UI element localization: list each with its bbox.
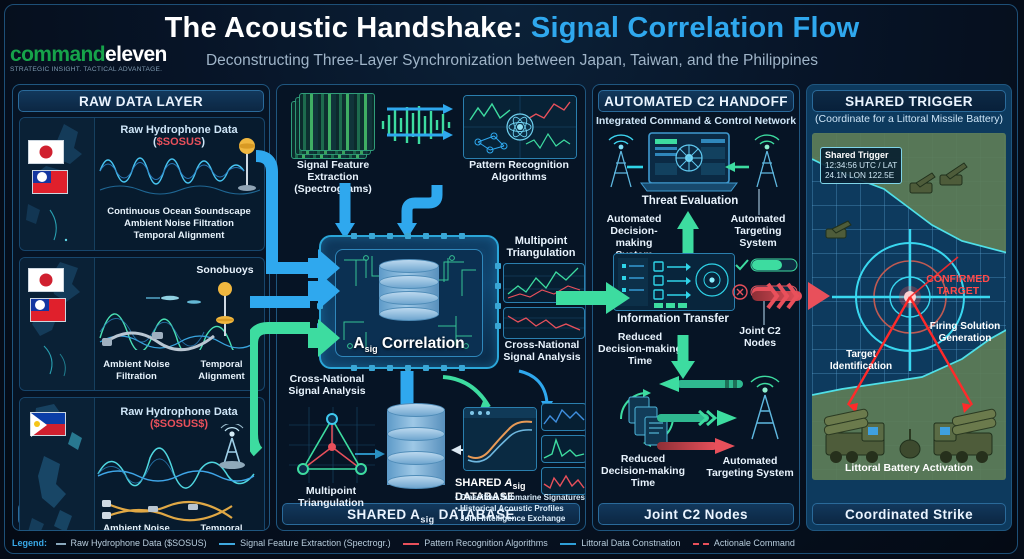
panel2-to-panel3-arrow [556,278,646,318]
legend-item-1: Raw Hydrophone Data ($SOSUS) [71,538,207,548]
radio-tower-icon-right [745,133,789,191]
map-japan-taiwan-1 [20,118,95,250]
signal-feature-l1: Signal Feature [287,159,379,171]
infographic-root: The Acoustic Handshake: Signal Correlati… [0,0,1024,559]
japan-flag [28,140,64,164]
ct-l2: TARGET [916,285,1000,297]
jc2-l1: Joint C2 [727,325,793,337]
legend-label: Legend: [12,538,47,548]
radio-tower-icon-lower [739,373,791,443]
raw-caption-1-a: Continuous Ocean Soundscape [94,206,264,218]
status-ok-bar-icon [733,257,799,273]
triangulation-icon [289,407,375,483]
raw-title-3-plain: Raw Hydrophone Data [94,406,264,418]
rtb-l1: Reduced [597,453,689,465]
reduced-time-bottom-label: Reduced Decision-making Time [597,453,689,489]
signal-feature-l2: Extraction [287,171,379,183]
threat-evaluation-label: Threat Evaluation [631,195,749,207]
legend-swatch-1 [56,543,66,545]
philippines-flag [30,412,66,436]
tag-line1: 12:34:56 UTC / LAT [825,161,897,171]
auto-targeting-bottom-label: Automated Targeting System [703,455,797,479]
chip-label-a: A [353,335,364,352]
legend-item-4: Littoral Data Constnation [581,538,680,548]
tower-link-left-icon [627,162,649,172]
shared-db-sub: sig [512,481,525,491]
pattern-recognition-label: Pattern Recognition Algorithms [459,159,579,183]
raw-row-japan-taiwan-2: Sonobuoys [19,257,265,391]
cable-icon-2 [100,320,220,354]
cnl-l2: Signal Analysis [283,385,371,397]
japan-flag-2 [28,268,64,292]
raw-cell-3: Raw Hydrophone Data ($SOSUS$) [94,398,264,531]
title-main: The Acoustic Handshake: [165,12,531,44]
shared-db-pre: SHARED [455,477,505,489]
panel3-subheader: Integrated Command & Control Network [593,115,799,127]
cross-national-label-right: Cross-National Signal Analysis [499,339,585,363]
database-icon-chip [379,259,439,321]
legend-swatch-3 [403,543,419,545]
target-identification-label: Target Identification [822,349,900,373]
raw-captions-1: Continuous Ocean Soundscape Ambient Nois… [94,206,264,242]
panel2-footer-pre: SHARED A [347,507,420,522]
tag-title: Shared Trigger [825,150,897,161]
auto-decision-l1: Automated [595,213,673,225]
sonobuoy-icon-1 [234,136,260,198]
mini-chart-icon-1 [542,404,586,430]
cnr-l2: Signal Analysis [499,351,585,363]
bullet-1: • Classified Submarine Signatures [455,493,585,504]
chip-label: Asig Correlation [321,335,497,354]
left-green-arrow-icon [655,375,749,393]
pattern-recognition-l2: Algorithms [459,171,579,183]
battery-activation-label: Littoral Battery Activation [812,462,1006,474]
raw-caption-3-left: Ambient Noise Filtration [94,522,179,531]
raw-caption-3-right: Temporal Alignment [179,522,264,531]
jc2-l2: Nodes [727,337,793,349]
raw-captions-3: Ambient Noise Filtration Temporal Alignm… [94,522,264,531]
legend-swatch-5 [693,543,709,545]
legend-swatch-2 [219,543,235,545]
fs-l2: Generation [922,333,1006,345]
tower-link-right-icon [723,161,749,173]
raw-captions-2: Ambient Noise Filtration Temporal Alignm… [94,358,264,384]
brand-logo: commandeleven STRATEGIC INSIGHT. TACTICA… [10,44,167,74]
panel3-header: AUTOMATED C2 HANDOFF [598,90,794,112]
cross-national-label-left: Cross-National Signal Analysis [283,373,371,397]
arrow-to-pattern-icon [385,101,461,147]
joint-c2-label: Joint C2 Nodes [727,325,793,349]
firing-solution-label: Firing Solution Generation [922,321,1006,345]
legend-item-5: Actionale Command [714,538,795,548]
rtb-l2: Decision-making [597,465,689,477]
multipoint-top-l1: Multipoint [499,235,583,247]
multipoint-top-l2: Triangulation [499,247,583,259]
logo-command: command [10,43,105,66]
panel4-footer: Coordinated Strike Command [812,503,1006,525]
ct-l1: CONFIRMED [916,273,1000,285]
panel-shared-database: SHARED Asig DATABASE Signal Feature Extr… [276,84,586,531]
tower-stem-icon [754,189,764,215]
antenna-icon [210,424,254,470]
panel-raw-data-layer: RAW DATA LAYER RAW DATA LAYER Raw Hydrop… [12,84,270,531]
pattern-charts-icon [464,96,576,158]
raw-cell-2: Sonobuoys [94,258,264,390]
panel4-header: SHARED TRIGGER [812,90,1006,112]
multipoint-label-top: Multipoint Triangulation [499,235,583,259]
atb-l2: Targeting System [703,467,797,479]
mini-chart-1 [541,403,586,431]
pattern-recognition-l1: Pattern Recognition [459,159,579,171]
map-philippines [20,398,95,531]
cnl-l1: Cross-National [283,373,371,385]
raw-cell-1: Raw Hydrophone Data ($SOSUS) Continuous … [94,118,264,250]
confirmed-target-label: CONFIRMED TARGET [916,273,1000,297]
panel3-to-panel4-arrow [752,278,840,314]
shared-trigger-tag: Shared Trigger 12:34:56 UTC / LAT 24.1N … [820,147,902,184]
legend-item-2: Signal Feature Extraction (Spectrogr.) [240,538,391,548]
asig-correlation-chip: Asig Correlation [319,235,499,369]
tid-l2: Identification [822,361,900,373]
analysis-window-icon [464,408,536,470]
raw-caption-2-right: Temporal Alignment [179,358,264,384]
shared-db-bullets: • Classified Submarine Signatures • Hist… [455,493,585,525]
multipoint-label-bottom: Multipoint Triangulation [283,485,379,509]
map-japan-taiwan-2 [20,258,95,390]
att-l2: Targeting System [717,225,799,249]
sonobuoys-label: Sonobuoys [190,264,260,276]
auto-decision-l2: Decision-making [595,225,673,249]
taiwan-flag-2 [30,298,66,322]
legend-swatch-4 [560,543,576,545]
page-title: The Acoustic Handshake: Signal Correlati… [0,12,1024,45]
panel3-footer: Joint C2 Nodes [598,503,794,525]
mini-chart-2 [541,435,586,463]
tri-to-db-arrow-icon [355,447,389,461]
multipoint-bot-l1: Multipoint [283,485,379,497]
atb-l1: Automated [703,455,797,467]
chip-label-rest: Correlation [378,335,465,352]
raw-row-japan-taiwan-1: Raw Hydrophone Data ($SOSUS) Continuous … [19,117,265,251]
tag-line2: 24.1N LON 122.5E [825,171,897,181]
bullet-2: • Historical Acoustic Profiles [455,504,585,515]
bullet-3: • Joint Intelligence Exchange [455,514,585,525]
panel2-footer-sub: sig [420,515,434,525]
multipoint-bot-l2: Triangulation [283,497,379,509]
signal-analysis-window [463,407,537,471]
auto-targeting-top-label: Automated Targeting System [717,213,799,249]
rtb-l3: Time [597,477,689,489]
legend: Legend: Raw Hydrophone Data ($SOSUS) Sig… [12,534,1012,552]
mini-chart-icon-2 [542,436,586,462]
legend-item-3: Pattern Recognition Algorithms [424,538,548,548]
tid-l1: Target [822,349,900,361]
map-graphics [812,133,1006,480]
cnr-l1: Cross-National [499,339,585,351]
logo-tagline: STRATEGIC INSIGHT. TACTICAL ADVANTAGE. [10,67,167,74]
raw-caption-1-c: Temporal Alignment [94,230,264,242]
tactical-map: Shared Trigger 12:34:56 UTC / LAT 24.1N … [812,133,1006,480]
up-arrow-threat-icon [675,209,701,255]
title-accent: Signal Correlation Flow [531,12,859,44]
taiwan-flag [32,170,68,194]
chip-label-sub: sig [365,344,378,354]
database-icon-shared [387,403,445,495]
panel1-header: RAW DATA LAYER [18,90,264,112]
right-green-arrow-icon [655,409,747,427]
raw-caption-2-left: Ambient Noise Filtration [94,358,179,384]
pattern-recognition-screen [463,95,577,159]
logo-eleven: eleven [105,43,167,66]
spectrogram-icon-3 [299,93,375,151]
fs-l1: Firing Solution [922,321,1006,333]
raw-caption-1-b: Ambient Noise Filtration [94,218,264,230]
raw-row-philippines: Raw Hydrophone Data ($SOSUS$) [19,397,265,531]
panel4-caption: (Coordinate for a Littoral Missile Batte… [812,113,1006,125]
